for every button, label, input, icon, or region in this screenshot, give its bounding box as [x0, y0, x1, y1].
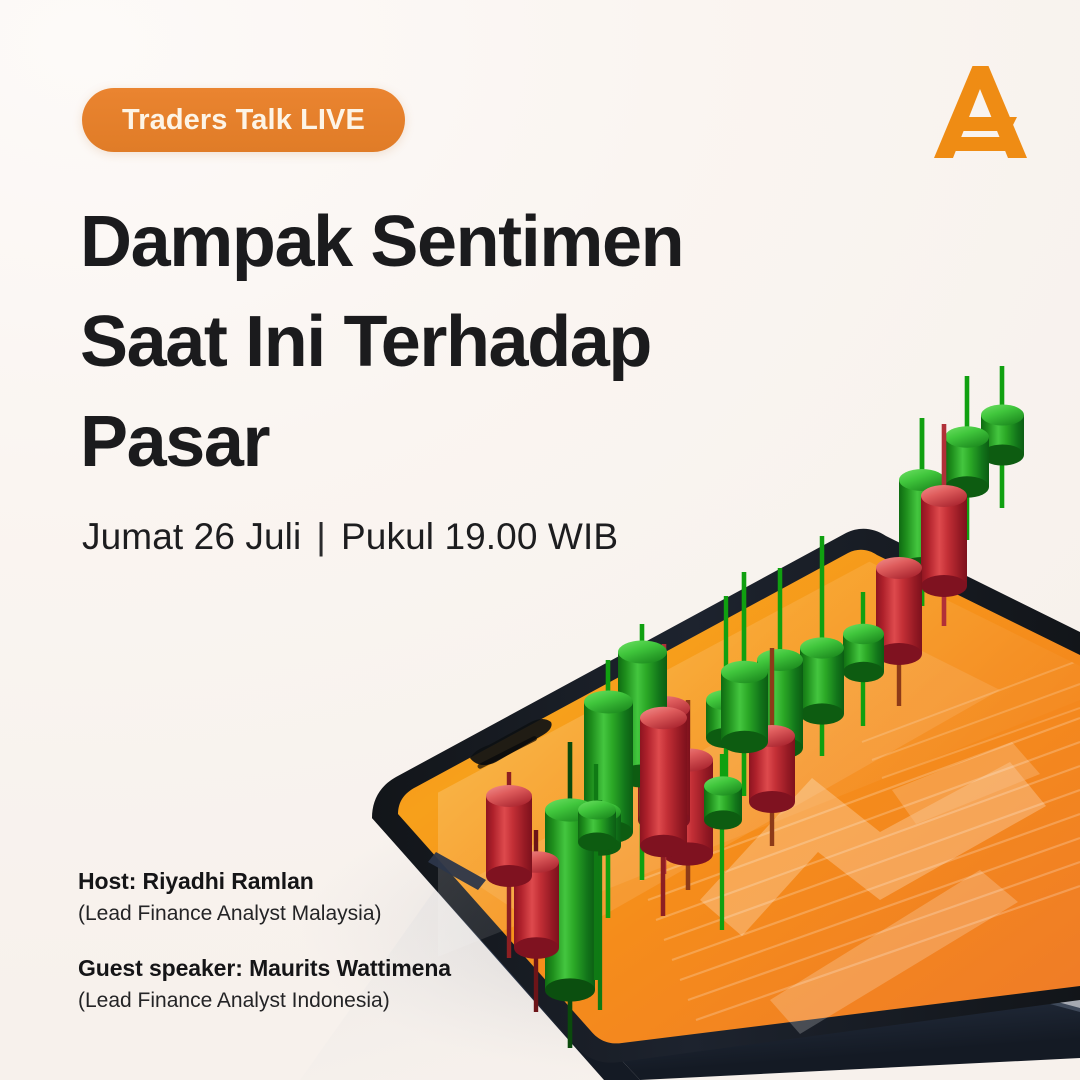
- event-date: Jumat 26 Juli: [82, 516, 301, 558]
- candle-9-bull: [706, 596, 747, 806]
- event-time: Pukul 19.00 WIB: [341, 516, 618, 558]
- headline-line-2: Saat Ini Terhadap: [80, 292, 800, 392]
- datetime-separator: |: [316, 516, 326, 558]
- candle-4b-bull: [704, 754, 742, 930]
- candle-3-bull: [584, 660, 633, 918]
- phone-power-button: [550, 936, 600, 969]
- headline-line-1: Dampak Sentimen: [80, 192, 800, 292]
- screen-line-pattern-2: [862, 660, 1080, 778]
- candle-5-bear: [638, 644, 690, 874]
- event-datetime: Jumat 26 Juli | Pukul 19.00 WIB: [82, 516, 618, 558]
- candle-17-bull: [981, 366, 1024, 508]
- phone-notch: [470, 719, 552, 765]
- candle-4-bull: [618, 624, 667, 880]
- headline-line-3: Pasar: [80, 392, 800, 492]
- credit-host: Host: Riyadhi Ramlan (Lead Finance Analy…: [78, 866, 548, 929]
- guest-role: (Lead Finance Analyst Indonesia): [78, 986, 548, 1016]
- candle-2b-bull: [581, 800, 621, 1010]
- screen-line-pattern: [640, 718, 1080, 1020]
- live-badge: Traders Talk LIVE: [82, 88, 405, 152]
- candle-7-bull: [721, 572, 768, 796]
- candle-14-bear: [921, 424, 967, 626]
- host-name: Host: Riyadhi Ramlan: [78, 866, 548, 896]
- guest-name: Guest speaker: Maurits Wattimena: [78, 953, 548, 983]
- host-role: (Lead Finance Analyst Malaysia): [78, 899, 548, 929]
- poster-canvas: Traders Talk LIVE Dampak Sentimen Saat I…: [0, 0, 1080, 1080]
- candle-10-bull: [757, 568, 803, 792]
- candle-16-bull: [945, 376, 989, 540]
- candle-6-bear: [663, 700, 713, 890]
- brand-logo-icon: [928, 62, 1032, 162]
- candle-1c-bull: [578, 764, 616, 980]
- candle-12-bull: [843, 592, 884, 726]
- live-badge-label: Traders Talk LIVE: [122, 104, 365, 137]
- candle-15-bull: [899, 418, 945, 606]
- candle-2-bear: [640, 707, 687, 916]
- candle-13-bear: [876, 557, 922, 706]
- candle-1b-bull: [545, 742, 595, 1048]
- credit-guest: Guest speaker: Maurits Wattimena (Lead F…: [78, 953, 548, 1016]
- screen-arrow-graphic: [700, 742, 1046, 1034]
- candle-11-bull: [800, 536, 844, 756]
- phone-speaker-slot: [477, 735, 538, 769]
- speaker-credits: Host: Riyadhi Ramlan (Lead Finance Analy…: [78, 866, 548, 1040]
- page-title: Dampak Sentimen Saat Ini Terhadap Pasar: [80, 192, 800, 492]
- screen-gloss-2: [470, 640, 1000, 940]
- candle-8-bear: [749, 648, 795, 846]
